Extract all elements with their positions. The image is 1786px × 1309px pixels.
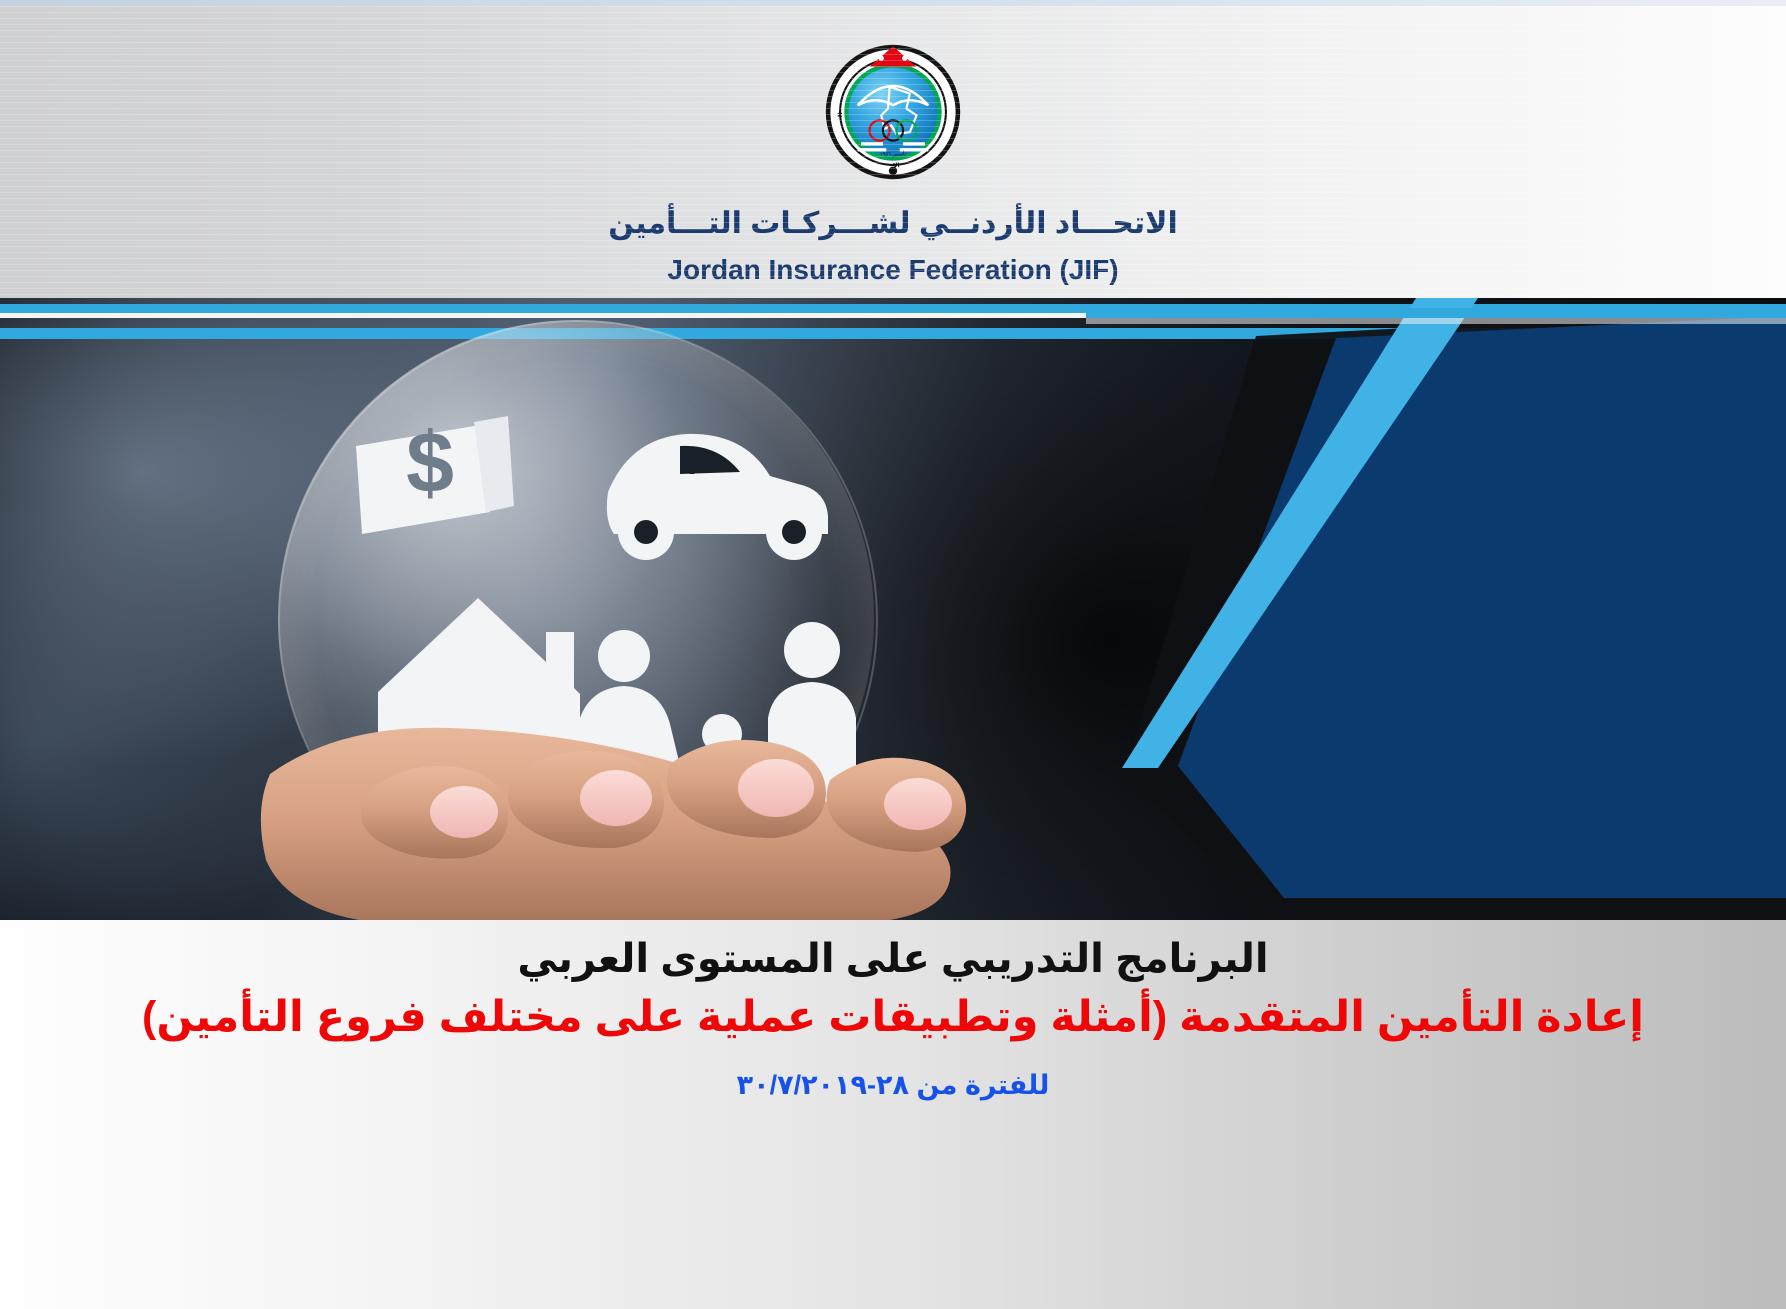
svg-text:تأسس ١٩٥٦: تأسس ١٩٥٦ [880, 150, 907, 158]
chevron-graphic [1086, 298, 1786, 920]
svg-text:$: $ [406, 415, 454, 511]
hand-graphic [250, 598, 1010, 920]
hero-image: $ [0, 298, 1786, 920]
header-band: JORDAN INSURANCE FEDERATION الاتحاد الأر… [0, 6, 1786, 298]
org-name-arabic: الاتحـــاد الأردنــي لشـــركـات التـــأم… [0, 206, 1786, 241]
logo-container: JORDAN INSURANCE FEDERATION الاتحاد الأر… [809, 28, 977, 196]
program-subject: إعادة التأمين المتقدمة (أمثلة وتطبيقات ع… [0, 992, 1786, 1042]
program-title: البرنامج التدريبي على المستوى العربي [0, 936, 1786, 982]
jif-logo-icon: JORDAN INSURANCE FEDERATION الاتحاد الأر… [809, 28, 977, 196]
poster-page: JORDAN INSURANCE FEDERATION الاتحاد الأر… [0, 0, 1786, 1309]
money-bill-icon: $ [356, 415, 514, 534]
org-name-english: Jordan Insurance Federation (JIF) [0, 254, 1786, 286]
car-icon [607, 434, 828, 560]
program-date: للفترة من ٢٨-٣٠/٧/٢٠١٩ [0, 1070, 1786, 1101]
footer-band: البرنامج التدريبي على المستوى العربي إعا… [0, 920, 1786, 1309]
